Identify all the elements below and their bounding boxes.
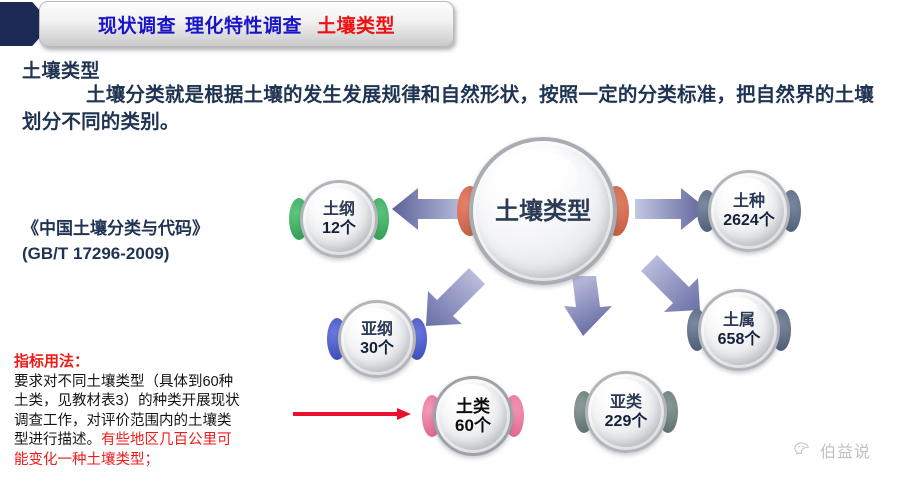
diagram-node-yalei[interactable]: 亚类 229个 (585, 371, 667, 453)
diagram-node-tuzhong[interactable]: 土种 2624个 (708, 170, 790, 252)
watermark: 伯益说 (793, 438, 871, 462)
standard-name: 《中国土壤分类与代码》 (22, 216, 209, 241)
usage-note: 指标用法： 要求对不同土壤类型（具体到60种土类，见教材表3）的种类开展现状调查… (14, 352, 240, 470)
wechat-icon (793, 440, 814, 461)
diagram-node-tushu[interactable]: 土属 658个 (698, 289, 780, 371)
tushu-count: 658个 (718, 330, 761, 349)
tulei-count: 60个 (455, 416, 491, 435)
tushu-sphere: 土属 658个 (698, 289, 780, 371)
standard-code: (GB/T 17296-2009) (22, 241, 209, 266)
usage-note-title: 指标用法： (14, 352, 240, 372)
diagram-node-center[interactable]: 土壤类型 (469, 137, 617, 285)
diagram-node-tulei[interactable]: 土类 60个 (433, 376, 513, 456)
center-node-label: 土壤类型 (495, 202, 591, 221)
tuzhong-sphere: 土种 2624个 (708, 170, 790, 252)
red-arrow-head (397, 408, 411, 420)
tushu-label: 土属 (723, 311, 755, 330)
yalei-count: 229个 (605, 412, 648, 431)
breadcrumb[interactable]: 现状调查 理化特性调查 土壤类型 (39, 1, 454, 47)
breadcrumb-item-2[interactable]: 理化特性调查 (185, 11, 302, 38)
diagram-node-tugang[interactable]: 土纲 12个 (300, 180, 378, 258)
yagang-sphere: 亚纲 30个 (338, 300, 416, 378)
yalei-sphere: 亚类 229个 (585, 371, 667, 453)
arrow-center-to-tugang-icon (392, 186, 464, 232)
standard-reference: 《中国土壤分类与代码》 (GB/T 17296-2009) (22, 216, 209, 266)
center-sphere: 土壤类型 (469, 137, 617, 285)
tuzhong-count: 2624个 (723, 211, 775, 230)
breadcrumb-item-1[interactable]: 现状调查 (98, 11, 176, 38)
arrow-center-to-tushu-icon (636, 252, 702, 314)
intro-paragraph: 土壤分类就是根据土壤的发生发展规律和自然形状，按照一定的分类标准，把自然界的土壤… (22, 82, 884, 136)
yagang-label: 亚纲 (361, 320, 393, 339)
yagang-count: 30个 (360, 339, 394, 358)
watermark-text: 伯益说 (820, 438, 871, 462)
red-arrow-shaft (293, 412, 401, 416)
tulei-sphere: 土类 60个 (433, 376, 513, 456)
tugang-label: 土纲 (323, 200, 355, 219)
header-bar-region: 现状调查 理化特性调查 土壤类型 (0, 0, 915, 52)
diagram-node-yagang[interactable]: 亚纲 30个 (338, 300, 416, 378)
page-title: 土壤类型 (22, 56, 100, 83)
usage-note-body: 要求对不同土壤类型（具体到60种土类，见教材表3）的种类开展现状调查工作，对评价… (14, 373, 240, 471)
tulei-label: 土类 (456, 397, 490, 416)
breadcrumb-item-current[interactable]: 土壤类型 (317, 11, 395, 38)
tugang-count: 12个 (322, 219, 356, 238)
yalei-label: 亚类 (610, 393, 642, 412)
tuzhong-label: 土种 (733, 192, 765, 211)
tugang-sphere: 土纲 12个 (300, 180, 378, 258)
red-pointer-arrow-icon (293, 408, 415, 420)
